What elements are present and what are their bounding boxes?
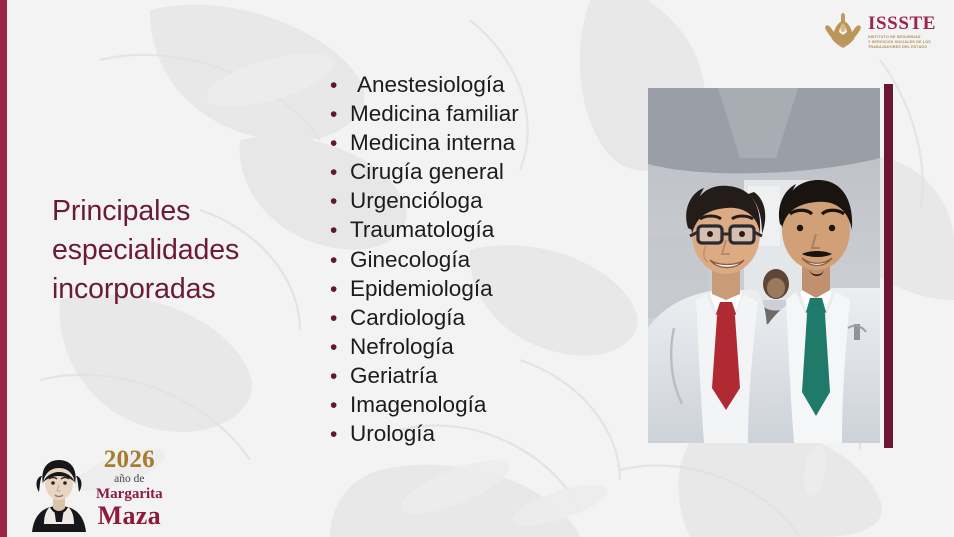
specialty-item: •Geriatría [330,365,519,394]
bullet-icon: • [330,337,350,358]
page-title-text: Principales especialidades incorporadas [52,192,312,309]
doctors-photo-image [648,88,880,443]
specialty-item: •Epidemiología [330,278,519,307]
specialty-label: Imagenología [350,394,486,417]
specialty-item: •Imagenología [330,394,519,423]
issste-subtitle: INSTITUTO DE SEGURIDAD Y SERVICIOS SOCIA… [868,35,936,51]
specialty-label: Traumatología [350,219,494,242]
bullet-icon: • [330,220,350,241]
photo-accent-bar [884,84,893,448]
doctors-photo [648,88,880,443]
specialty-label: Epidemiología [350,278,493,301]
maza-year: 2026 [96,448,163,472]
bullet-icon: • [330,75,350,96]
specialty-item: •Nefrología [330,336,519,365]
bullet-icon: • [330,395,350,416]
bullet-icon: • [330,133,350,154]
specialty-label: Cirugía general [350,161,504,184]
bullet-icon: • [330,308,350,329]
issste-logo: ISSSTE INSTITUTO DE SEGURIDAD Y SERVICIO… [822,8,946,54]
specialty-label: Medicina familiar [350,103,519,126]
bullet-icon: • [330,162,350,183]
specialty-label: Cardiología [350,307,465,330]
specialty-item: •Traumatología [330,219,519,248]
slide-canvas: Principales especialidades incorporadas … [0,0,954,537]
specialty-item: •Medicina familiar [330,103,519,132]
specialty-label: Ginecología [350,249,470,272]
specialty-item: •Anestesiología [330,74,519,103]
issste-wordblock: ISSSTE INSTITUTO DE SEGURIDAD Y SERVICIO… [868,12,936,51]
specialty-item: •Urología [330,423,519,452]
left-accent-strip [0,0,7,537]
specialty-item: •Cirugía general [330,161,519,190]
bullet-icon: • [330,104,350,125]
specialty-label: Urgencióloga [350,190,483,213]
specialty-label: Anestesiología [350,74,505,97]
issste-name: ISSSTE [868,14,936,33]
bullet-icon: • [330,424,350,445]
specialty-label: Medicina interna [350,132,515,155]
specialty-item: •Cardiología [330,307,519,336]
margarita-maza-text: 2026 año de Margarita Maza [96,448,163,532]
margarita-maza-portrait [28,454,90,532]
bullet-icon: • [330,366,350,387]
specialty-item: •Ginecología [330,249,519,278]
issste-subtitle-line: TRABAJADORES DEL ESTADO [868,45,936,50]
page-title: Principales especialidades incorporadas [52,192,312,309]
bullet-icon: • [330,191,350,212]
specialties-list: •Anestesiología•Medicina familiar•Medici… [330,74,519,452]
specialty-item: •Medicina interna [330,132,519,161]
specialty-label: Nefrología [350,336,454,359]
specialty-label: Urología [350,423,435,446]
bullet-icon: • [330,279,350,300]
margarita-maza-logo: 2026 año de Margarita Maza [28,452,194,532]
maza-last-name: Maza [96,503,163,528]
issste-eagle-emblem [822,10,864,52]
bullet-icon: • [330,250,350,271]
specialty-item: •Urgencióloga [330,190,519,219]
maza-ano-de: año de [96,473,163,485]
specialty-label: Geriatría [350,365,438,388]
